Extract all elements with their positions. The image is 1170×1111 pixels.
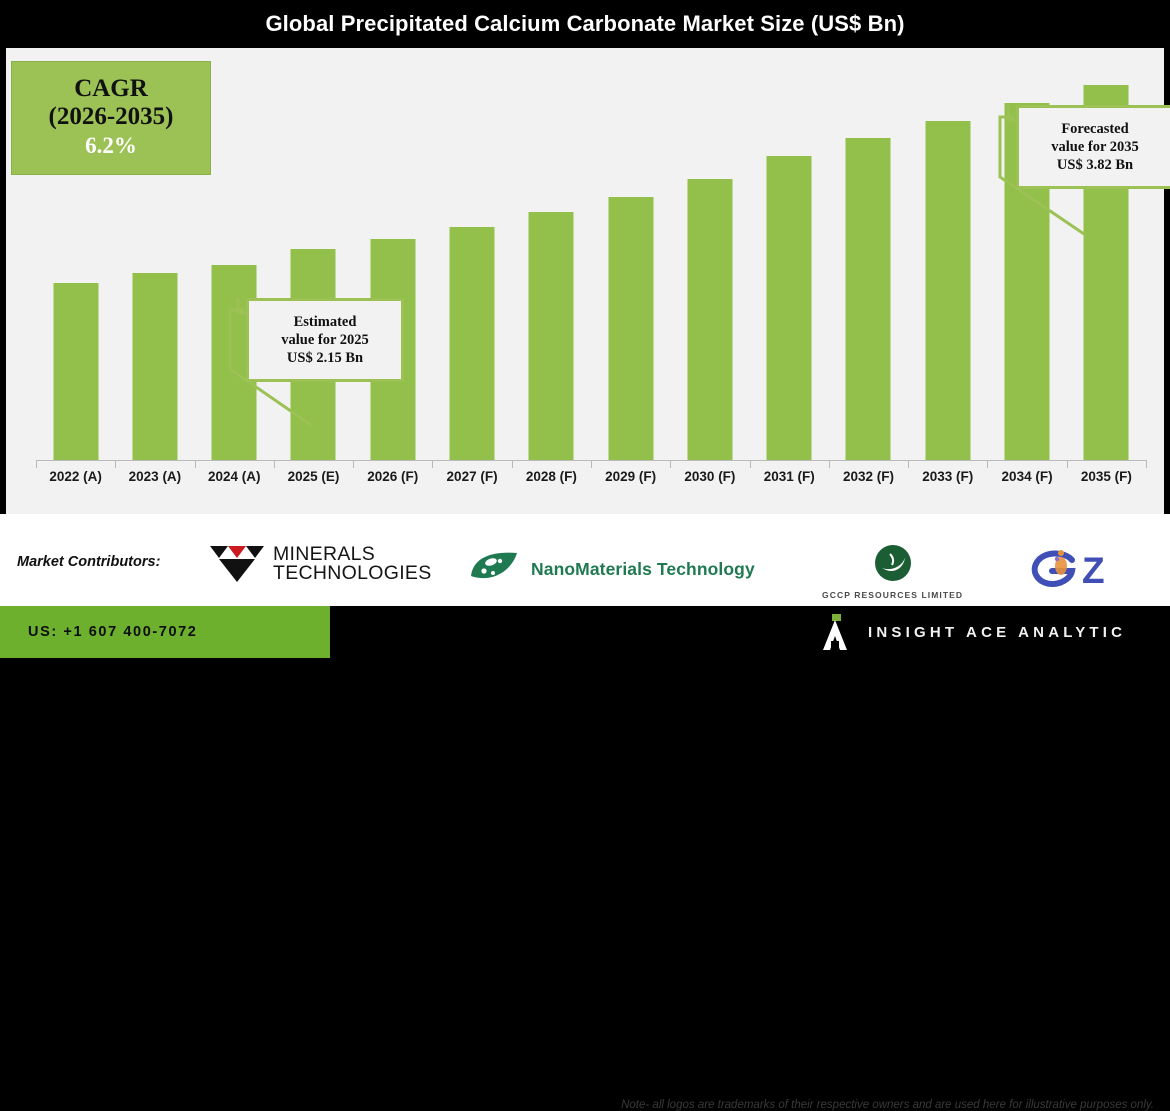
page-title: Global Precipitated Calcium Carbonate Ma… [265,11,904,37]
x-axis-tick [353,460,354,468]
x-axis-tick [36,460,37,468]
market-contributors-label: Market Contributors: [17,554,160,570]
minerals-technologies-line2: TECHNOLOGIES [273,564,432,584]
bar-2029[interactable] [608,197,653,460]
x-axis-label-2035: 2035 (F) [1067,469,1146,484]
bar-2027[interactable] [450,227,495,460]
trademark-note: Note- all logos are trademarks of their … [621,1099,1154,1111]
bar-slot [432,48,511,460]
callout-forecasted-2035: Forecasted value for 2035 US$ 3.82 Bn [1016,105,1170,189]
callout-estimated-line2: value for 2025 [281,331,369,349]
x-axis-tick [195,460,196,468]
insight-ace-a-icon [820,614,850,650]
footer-bar: US: +1 607 400-7072 INSIGHT ACE ANALYTIC [0,606,1170,658]
x-axis-label-2028: 2028 (F) [512,469,591,484]
x-axis-labels: 2022 (A)2023 (A)2024 (A)2025 (E)2026 (F)… [36,469,1146,499]
nanomaterials-technology-label: NanoMaterials Technology [531,559,755,580]
x-axis-label-2027: 2027 (F) [432,469,511,484]
bar-slot [591,48,670,460]
callout-estimated-line1: Estimated [294,313,357,331]
x-axis-tick [1146,460,1147,468]
x-axis-tick [432,460,433,468]
x-axis-tick [1067,460,1068,468]
callout-forecasted-line1: Forecasted [1061,120,1128,138]
x-axis-tick [829,460,830,468]
x-axis-tick [987,460,988,468]
bar-slot [829,48,908,460]
ez-label: Z [1082,552,1105,589]
bar-2028[interactable] [529,212,574,460]
logo-minerals-technologies: MINERALS TECHNOLOGIES [208,544,432,584]
x-axis-label-2025: 2025 (E) [274,469,353,484]
x-axis-label-2031: 2031 (F) [750,469,829,484]
nanomaterials-leaf-icon [467,550,523,589]
minerals-technologies-icon [208,544,266,584]
title-bar: Global Precipitated Calcium Carbonate Ma… [0,0,1170,48]
x-axis-label-2023: 2023 (A) [115,469,194,484]
gccp-circle-icon [870,544,916,587]
footer-phone[interactable]: US: +1 607 400-7072 [28,624,197,640]
logo-gccp-resources-limited: GCCP RESOURCES LIMITED [822,544,963,600]
bar-slot [115,48,194,460]
bar-series [36,48,1146,460]
x-axis-label-2026: 2026 (F) [353,469,432,484]
bar-slot [353,48,432,460]
ez-swirl-icon [1028,546,1086,595]
bar-slot [750,48,829,460]
bar-2022[interactable] [53,283,98,460]
callout-forecasted-line2: value for 2035 [1051,138,1139,156]
x-axis-tick [750,460,751,468]
bar-2031[interactable] [767,156,812,460]
callout-estimated-line3: US$ 2.15 Bn [287,349,363,367]
x-axis-label-2034: 2034 (F) [987,469,1066,484]
bar-slot [36,48,115,460]
bar-2032[interactable] [846,138,891,460]
infographic-page: Global Precipitated Calcium Carbonate Ma… [0,0,1170,658]
brand-lockup: INSIGHT ACE ANALYTIC [820,614,1126,650]
x-axis-tick [512,460,513,468]
bar-slot [274,48,353,460]
bar-2023[interactable] [132,273,177,460]
callout-estimated-2025: Estimated value for 2025 US$ 2.15 Bn [246,298,404,382]
x-axis-label-2024: 2024 (A) [195,469,274,484]
x-axis-label-2029: 2029 (F) [591,469,670,484]
x-axis-tick [274,460,275,468]
bar-slot [512,48,591,460]
logo-ez: Z [1028,546,1105,595]
x-axis-tick [908,460,909,468]
logo-nanomaterials-technology: NanoMaterials Technology [467,550,755,589]
x-axis-label-2033: 2033 (F) [908,469,987,484]
market-contributors-strip: Market Contributors: MINERALS TECHNOLOGI… [0,514,1170,606]
callout-forecasted-line3: US$ 3.82 Bn [1057,156,1133,174]
x-axis-tick [115,460,116,468]
brand-name: INSIGHT ACE ANALYTIC [868,624,1126,641]
bar-slot [670,48,749,460]
x-axis-label-2022: 2022 (A) [36,469,115,484]
bar-slot [908,48,987,460]
bar-2030[interactable] [687,179,732,460]
x-axis-label-2032: 2032 (F) [829,469,908,484]
gccp-label: GCCP RESOURCES LIMITED [822,590,963,600]
x-axis-tick [591,460,592,468]
chart-panel: CAGR (2026-2035) 6.2% 2022 (A)2023 (A)20… [6,48,1164,514]
x-axis-label-2030: 2030 (F) [670,469,749,484]
bar-2033[interactable] [925,121,970,460]
bar-slot [195,48,274,460]
plot-area [36,48,1146,460]
x-axis-tick [670,460,671,468]
